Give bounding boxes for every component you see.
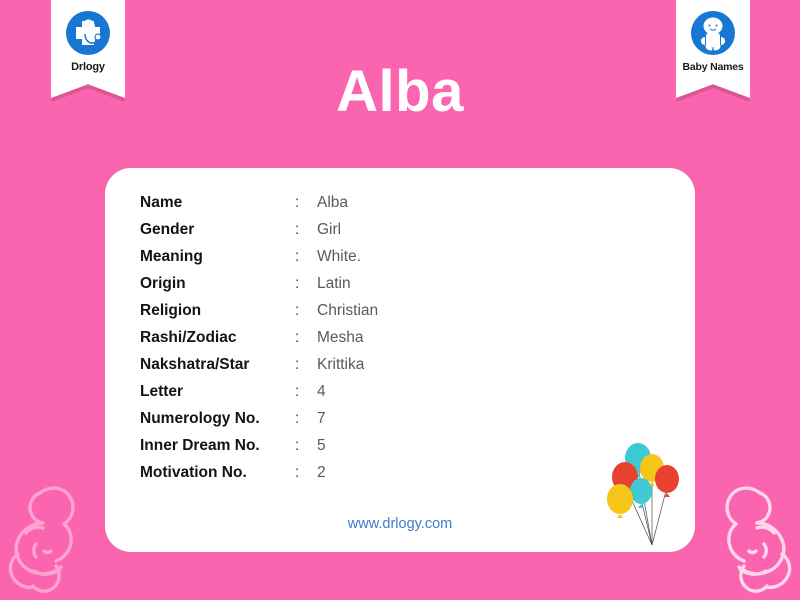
detail-separator: : <box>295 248 317 266</box>
detail-value: Latin <box>317 275 351 293</box>
detail-row: Origin:Latin <box>140 275 378 302</box>
detail-value: Christian <box>317 302 378 320</box>
baby-icon <box>688 8 738 58</box>
detail-label: Religion <box>140 302 295 320</box>
detail-row: Name:Alba <box>140 194 378 221</box>
detail-row: Rashi/Zodiac:Mesha <box>140 329 378 356</box>
detail-separator: : <box>295 275 317 293</box>
detail-row: Motivation No.:2 <box>140 464 378 491</box>
detail-row: Meaning:White. <box>140 248 378 275</box>
name-details-card: Name:AlbaGender:GirlMeaning:White.Origin… <box>105 168 695 552</box>
detail-label: Letter <box>140 383 295 401</box>
detail-row: Gender:Girl <box>140 221 378 248</box>
detail-value: Mesha <box>317 329 364 347</box>
detail-value: White. <box>317 248 361 266</box>
detail-separator: : <box>295 329 317 347</box>
detail-row: Nakshatra/Star:Krittika <box>140 356 378 383</box>
detail-value: 5 <box>317 437 326 455</box>
page-title: Alba <box>0 63 800 121</box>
detail-separator: : <box>295 302 317 320</box>
detail-label: Numerology No. <box>140 410 295 428</box>
detail-separator: : <box>295 464 317 482</box>
details-table: Name:AlbaGender:GirlMeaning:White.Origin… <box>140 194 378 491</box>
detail-row: Religion:Christian <box>140 302 378 329</box>
detail-separator: : <box>295 410 317 428</box>
detail-separator: : <box>295 383 317 401</box>
detail-separator: : <box>295 356 317 374</box>
detail-label: Name <box>140 194 295 212</box>
mother-and-baby-icon <box>0 471 100 600</box>
detail-label: Nakshatra/Star <box>140 356 295 374</box>
detail-value: Girl <box>317 221 341 239</box>
detail-separator: : <box>295 194 317 212</box>
site-url-link[interactable]: www.drlogy.com <box>105 516 695 532</box>
detail-label: Motivation No. <box>140 464 295 482</box>
detail-value: 2 <box>317 464 326 482</box>
mother-and-baby-icon <box>700 471 800 600</box>
detail-label: Inner Dream No. <box>140 437 295 455</box>
detail-row: Inner Dream No.:5 <box>140 437 378 464</box>
detail-row: Letter:4 <box>140 383 378 410</box>
detail-value: Alba <box>317 194 348 212</box>
detail-row: Numerology No.:7 <box>140 410 378 437</box>
detail-value: 7 <box>317 410 326 428</box>
detail-label: Rashi/Zodiac <box>140 329 295 347</box>
detail-label: Meaning <box>140 248 295 266</box>
detail-label: Gender <box>140 221 295 239</box>
detail-value: 4 <box>317 383 326 401</box>
detail-value: Krittika <box>317 356 364 374</box>
balloon-cluster-icon <box>605 441 691 552</box>
detail-label: Origin <box>140 275 295 293</box>
doctor-medical-cross-icon <box>63 8 113 58</box>
detail-separator: : <box>295 221 317 239</box>
detail-separator: : <box>295 437 317 455</box>
